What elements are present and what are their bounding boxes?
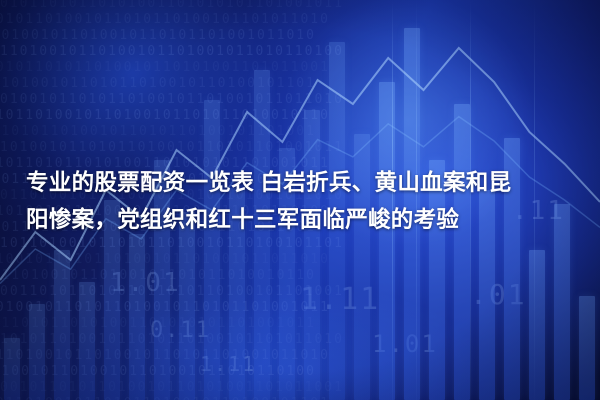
banner-image: 0101101011010100110101010110100101110101… bbox=[0, 0, 600, 400]
headline-text: 专业的股票配资一览表 白岩折兵、黄山血案和昆 阳惨案，党组织和红十三军面临严峻的… bbox=[26, 164, 574, 238]
headline-line-2: 阳惨案，党组织和红十三军面临严峻的考验 bbox=[26, 201, 574, 238]
headline-line-1: 专业的股票配资一览表 白岩折兵、黄山血案和昆 bbox=[26, 164, 574, 201]
